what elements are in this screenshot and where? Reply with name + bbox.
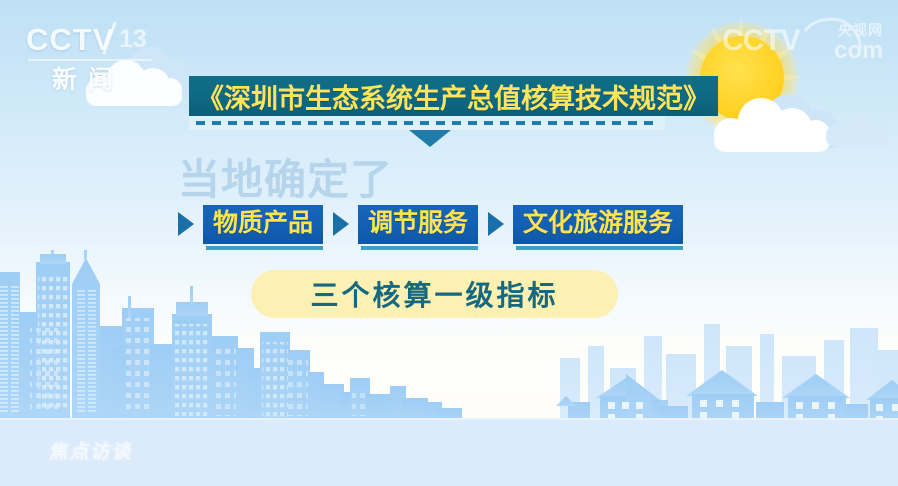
indicator-chip-underline: [516, 246, 683, 250]
document-title-text: 《深圳市生态系统生产总值核算技术规范》: [197, 77, 710, 116]
title-dashed-rule: [196, 121, 658, 125]
news-graphic-stage: CCTV 13 新闻 CCTV 央视网 com 《深圳市生态系统生产总值核算技术…: [0, 0, 898, 486]
logo-cctv-text: CCTV: [26, 22, 114, 58]
watermark-com-text: com: [834, 37, 883, 65]
logo-channel-number: 13: [119, 25, 147, 54]
indicator-chip-row: 物质产品 调节服务 文化旅游服务: [178, 205, 683, 244]
triangle-right-icon: [333, 212, 349, 236]
ground-line: [0, 418, 898, 420]
indicator-chip-label: 调节服务: [358, 205, 478, 244]
ghost-headline-text: 当地确定了: [178, 146, 393, 207]
logo-news-label: 新闻: [52, 60, 124, 96]
triangle-right-icon: [178, 212, 194, 236]
program-watermark: 焦点访谈: [48, 437, 137, 464]
cloud-right-front-icon: [714, 96, 830, 152]
indicator-chip-underline: [206, 246, 323, 250]
summary-pill-label: 三个核算一级指标: [310, 274, 558, 314]
summary-pill: 三个核算一级指标: [251, 270, 618, 318]
cctv-13-news-logo: CCTV 13 新闻: [26, 22, 194, 84]
cctv-com-watermark: CCTV 央视网 com: [722, 18, 890, 66]
cloud-right-small-icon: [826, 112, 888, 146]
watermark-cctv-text: CCTV: [722, 24, 800, 58]
document-title-bar: 《深圳市生态系统生产总值核算技术规范》: [189, 76, 718, 116]
ground-band: [0, 419, 898, 486]
indicator-chip-underline: [361, 246, 478, 250]
indicator-chip-label: 文化旅游服务: [513, 205, 683, 244]
indicator-chip-1: 物质产品: [203, 205, 323, 244]
indicator-chip-label: 物质产品: [203, 205, 323, 244]
indicator-chip-3: 文化旅游服务: [513, 205, 683, 244]
triangle-right-icon: [488, 212, 504, 236]
chevron-down-icon: [409, 130, 451, 147]
indicator-chip-2: 调节服务: [358, 205, 478, 244]
